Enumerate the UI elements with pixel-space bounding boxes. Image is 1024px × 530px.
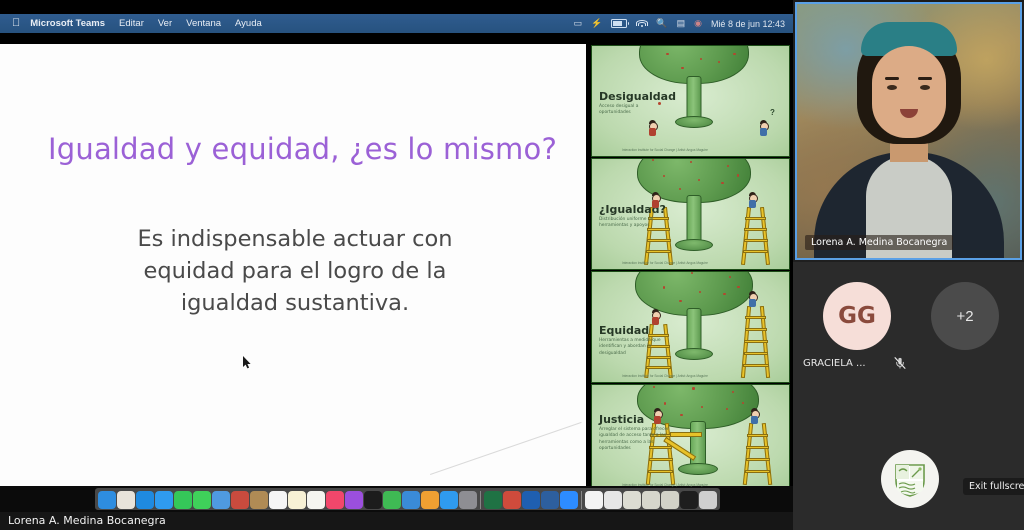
menu-item-ventana[interactable]: Ventana [186, 18, 221, 29]
self-video-tile[interactable]: Lorena A. Medina Bocanegra [795, 2, 1022, 260]
dock-messages-icon[interactable] [193, 491, 211, 509]
dock-separator [581, 491, 582, 509]
dock-separator [480, 491, 481, 509]
panel-title: Equidad [599, 324, 649, 337]
dock-safari-icon[interactable] [136, 491, 154, 509]
panel-subtitle: Distribución uniforme de herramientas y … [599, 217, 671, 230]
dock-excel-icon[interactable] [484, 491, 502, 509]
dock-keynote-icon[interactable] [402, 491, 420, 509]
participant-video-figure [809, 26, 1009, 260]
panel-title: Desigualdad [599, 90, 676, 103]
slide-title: Igualdad y equidad, ¿es lo mismo? [48, 132, 558, 166]
org-crest-icon [881, 450, 939, 508]
dock-teams-icon[interactable] [503, 491, 521, 509]
menu-app-name[interactable]: Microsoft Teams [30, 18, 105, 29]
avatar-initials: GG [838, 303, 876, 329]
panel-credit: Interaction Institute for Social Change … [622, 261, 708, 265]
control-center-icon[interactable]: ▤ [677, 19, 686, 28]
search-icon[interactable]: 🔍 [656, 19, 667, 28]
avatar-overflow-count[interactable]: +2 [931, 282, 999, 350]
slide-body-line-2: equidad para el logro de la [60, 256, 530, 288]
slide-body-line-1: Es indispensable actuar con [60, 224, 530, 256]
dock-file-icon[interactable] [585, 491, 603, 509]
panel-subtitle: Acceso desigual a oportunidades [599, 104, 671, 117]
ladder-right [742, 207, 768, 263]
dock-appletv-icon[interactable] [364, 491, 382, 509]
presentation-slide: Igualdad y equidad, ¿es lo mismo? Es ind… [0, 44, 586, 492]
menu-status-area: ▭ ⚡ 🔍 ▤ ◉ Mié 8 de jun 12:43 [574, 19, 789, 29]
slide-fold-line [430, 422, 601, 492]
mouse-pointer-icon [243, 356, 252, 369]
face [872, 46, 946, 138]
presenter-name: Lorena A. Medina Bocanegra [8, 514, 166, 527]
dock-notes-icon[interactable] [288, 491, 306, 509]
battery-icon[interactable] [611, 19, 627, 28]
dock-contacts-icon[interactable] [250, 491, 268, 509]
ladder-right [744, 423, 770, 483]
dock-reminders-icon[interactable] [307, 491, 325, 509]
dock-trash-icon[interactable] [699, 491, 717, 509]
dock-facetime-icon[interactable] [174, 491, 192, 509]
dock-document-icon[interactable] [604, 491, 622, 509]
eyebrow-left [885, 77, 899, 80]
screen-root:  Microsoft Teams Editar Ver Ventana Ayu… [0, 0, 1024, 530]
apple-icon[interactable]:  [12, 18, 20, 29]
slide-body-text: Es indispensable actuar con equidad para… [60, 224, 530, 320]
dock-calendar-icon[interactable] [269, 491, 287, 509]
presenter-status-bar: Lorena A. Medina Bocanegra [0, 512, 793, 530]
dock-folder-icon[interactable] [661, 491, 679, 509]
dock-finder-icon[interactable] [98, 491, 116, 509]
exit-fullscreen-tooltip[interactable]: Exit fullscreen [963, 478, 1024, 495]
eye-right [920, 85, 930, 90]
mouth [900, 109, 918, 118]
avatar-name-label: GRACIELA ... [803, 358, 866, 369]
menu-item-editar[interactable]: Editar [119, 18, 144, 29]
bolt-icon[interactable]: ⚡ [591, 19, 602, 28]
participant-avatars: GG +2 GRACIELA ... [795, 282, 1022, 392]
macos-menu-bar[interactable]:  Microsoft Teams Editar Ver Ventana Ayu… [0, 14, 793, 33]
illustration-panel-justicia: Justicia Arreglar el sistema para ofrece… [591, 384, 790, 492]
illustration-panel-equidad: Equidad Herramientas a medida que identi… [591, 271, 790, 383]
panel-title: Justicia [599, 413, 644, 426]
dock-zoom-icon[interactable] [560, 491, 578, 509]
slide-body-line-3: igualdad sustantiva. [60, 288, 530, 320]
dock-terminal-icon[interactable] [680, 491, 698, 509]
dock-photos-icon[interactable] [117, 491, 135, 509]
dock-pages-icon[interactable] [421, 491, 439, 509]
dock-podcasts-icon[interactable] [345, 491, 363, 509]
dock-powerpoint-icon[interactable] [541, 491, 559, 509]
menu-item-ayuda[interactable]: Ayuda [235, 18, 262, 29]
panel-credit: Interaction Institute for Social Change … [622, 483, 708, 487]
eye-left [887, 85, 897, 90]
dock-screenshot-icon[interactable] [642, 491, 660, 509]
panel-subtitle: Arreglar el sistema para ofrecer igualda… [599, 427, 671, 453]
menu-item-ver[interactable]: Ver [158, 18, 172, 29]
shared-screen-area: Igualdad y equidad, ¿es lo mismo? Es ind… [0, 33, 793, 492]
panel-subtitle: Herramientas a medida que identifican y … [599, 338, 671, 357]
macos-dock[interactable] [95, 488, 720, 510]
dock-numbers-icon[interactable] [383, 491, 401, 509]
dock-word-icon[interactable] [522, 491, 540, 509]
eyebrow-right [918, 77, 932, 80]
panel-credit: Interaction Institute for Social Change … [622, 148, 708, 152]
dock-preview-icon[interactable] [623, 491, 641, 509]
illustration-panel-igualdad: ¿Igualdad? Distribución uniforme de herr… [591, 158, 790, 270]
illustration-column: ? Desigualdad Acceso desigual a oportuni… [588, 33, 793, 492]
panel-credit: Interaction Institute for Social Change … [622, 374, 708, 378]
wifi-icon[interactable] [636, 20, 647, 28]
menu-clock[interactable]: Mié 8 de jun 12:43 [711, 19, 785, 29]
dock-preferences-icon[interactable] [459, 491, 477, 509]
siri-icon[interactable]: ◉ [694, 19, 702, 28]
dock-appstore-icon[interactable] [440, 491, 458, 509]
ladder-right-tall [742, 306, 768, 376]
dock-music-icon[interactable] [326, 491, 344, 509]
avatar-graciela[interactable]: GG [823, 282, 891, 350]
self-video-name-label: Lorena A. Medina Bocanegra [805, 235, 953, 250]
overflow-label: +2 [956, 308, 973, 325]
dock-mail-icon[interactable] [155, 491, 173, 509]
top-black-strip [0, 0, 793, 14]
illustration-panel-desigualdad: ? Desigualdad Acceso desigual a oportuni… [591, 45, 790, 157]
screen-share-icon[interactable]: ▭ [574, 19, 583, 28]
dock-maps-icon[interactable] [212, 491, 230, 509]
mic-off-icon [893, 356, 907, 370]
question-mark-icon: ? [770, 108, 775, 117]
support-beam [670, 432, 702, 437]
dock-photobooth-icon[interactable] [231, 491, 249, 509]
